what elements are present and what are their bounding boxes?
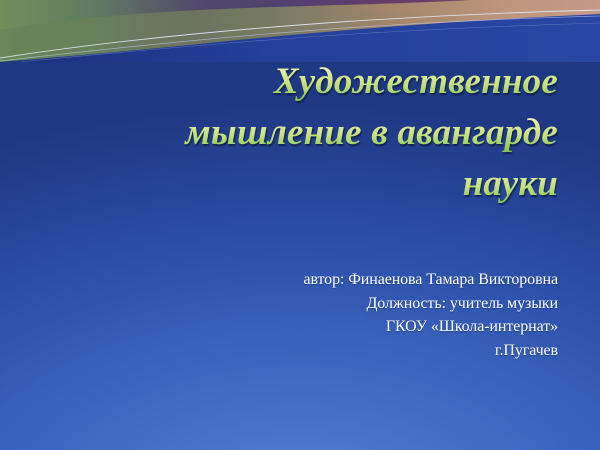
title-line-3: науки bbox=[20, 158, 558, 209]
subtitle-line-position: Должность: учитель музыки bbox=[20, 292, 558, 316]
title-slide: Художественное мышление в авангарде наук… bbox=[0, 0, 600, 450]
page-title: Художественное мышление в авангарде наук… bbox=[20, 56, 558, 209]
decorative-top-band bbox=[0, 0, 600, 62]
subtitle-line-institution: ГКОУ «Школа-интернат» bbox=[20, 315, 558, 339]
subtitle-line-city: г.Пугачев bbox=[20, 339, 558, 363]
swoosh-graphic-icon bbox=[0, 0, 600, 62]
title-line-1: Художественное bbox=[20, 56, 558, 107]
subtitle-line-author: автор: Финаенова Тамара Викторовна bbox=[20, 268, 558, 292]
title-line-2: мышление в авангарде bbox=[20, 107, 558, 158]
subtitle-author-block: автор: Финаенова Тамара Викторовна Должн… bbox=[20, 268, 558, 362]
